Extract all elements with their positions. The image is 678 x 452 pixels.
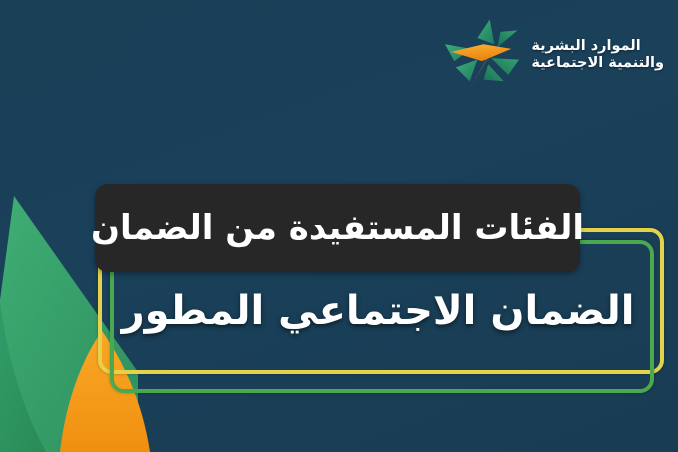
green-leaf-shadow-shape	[0, 300, 46, 452]
headline-primary-box: الفئات المستفيدة من الضمان	[95, 184, 580, 272]
ministry-logo-line-1: الموارد البشرية	[531, 38, 640, 55]
headline-primary-text: الفئات المستفيدة من الضمان	[91, 208, 584, 248]
ministry-logo: الموارد البشرية والتنمية الاجتماعية	[443, 18, 664, 92]
headline-secondary: الضمان الاجتماعي المطور	[108, 275, 648, 347]
ministry-logo-wordmark: الموارد البشرية والتنمية الاجتماعية	[531, 38, 664, 72]
headline-secondary-text: الضمان الاجتماعي المطور	[122, 288, 635, 334]
banner-canvas: الموارد البشرية والتنمية الاجتماعية	[0, 0, 678, 452]
ministry-logo-line-2: والتنمية الاجتماعية	[531, 55, 664, 72]
starburst-icon	[443, 18, 521, 92]
